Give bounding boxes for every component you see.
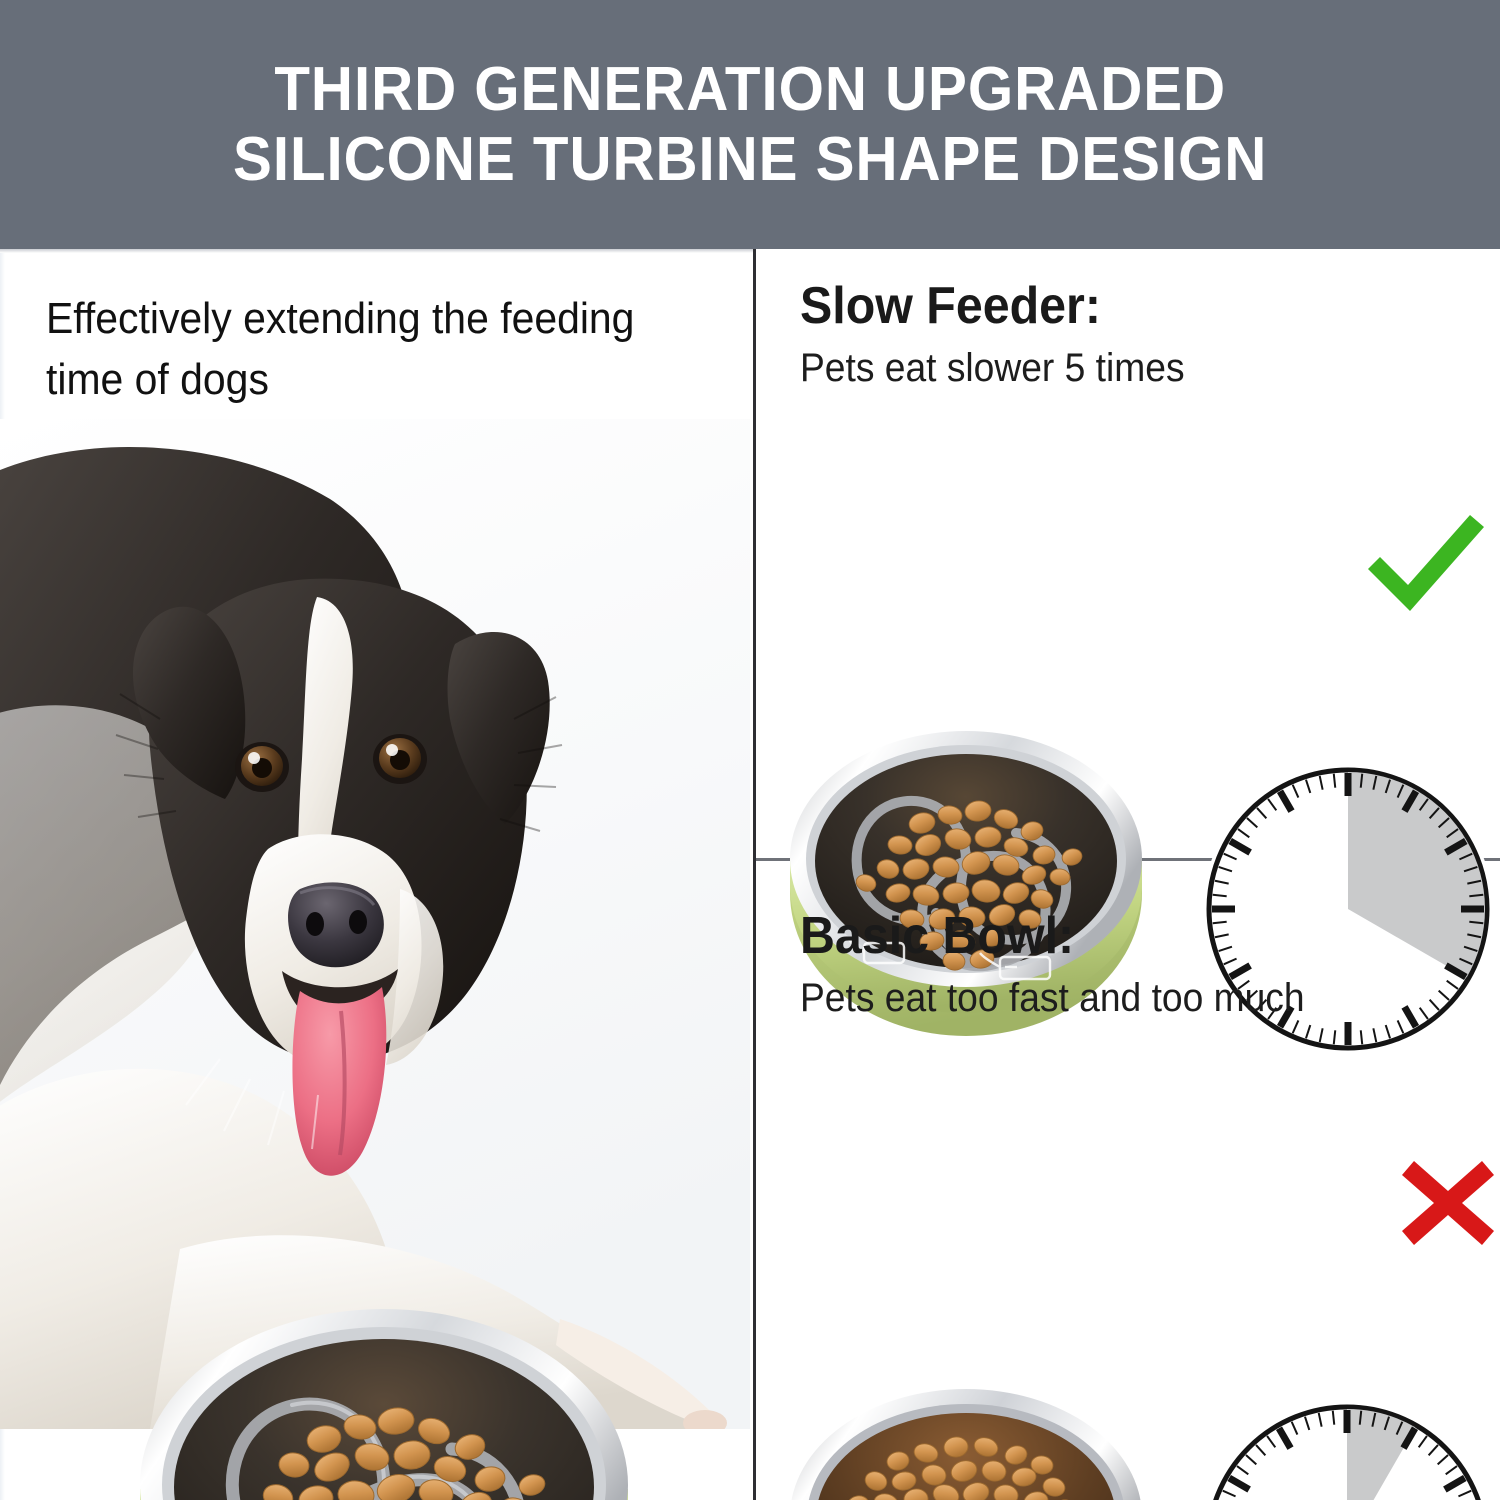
top-edge-gradient [0,249,753,253]
basic-bowl-heading: Basic Bowl: [800,909,1305,964]
product-infographic: THIRD GENERATION UPGRADED SILICONE TURBI… [0,0,1500,1500]
left-caption: Effectively extending the feeding time o… [46,289,736,410]
green-check-icon [1360,511,1490,621]
basic-bowl-subheading: Pets eat too fast and too much [800,974,1305,1022]
left-caption-line2: time of dogs [46,350,688,411]
slow-feeder-bowl-large [128,1289,640,1500]
header-title-line1: THIRD GENERATION UPGRADED [274,58,1226,121]
basic-bowl-clock [1202,1401,1492,1500]
header-title-line2: SILICONE TURBINE SHAPE DESIGN [233,128,1267,191]
dog-photo [0,419,750,1429]
content-area: Effectively extending the feeding time o… [0,249,1500,1500]
header-banner: THIRD GENERATION UPGRADED SILICONE TURBI… [0,0,1500,249]
red-cross-icon [1398,1157,1498,1249]
basic-bowl-text-block: Basic Bowl: Pets eat too fast and too mu… [800,909,1343,1022]
left-caption-line1: Effectively extending the feeding [46,289,688,350]
panel-vertical-divider [753,249,756,1500]
slow-feeder-text-block: Slow Feeder: Pets eat slower 5 times [800,279,1214,392]
slow-feeder-subheading: Pets eat slower 5 times [800,344,1185,392]
basic-bowl [780,1377,1152,1500]
slow-feeder-heading: Slow Feeder: [800,279,1185,334]
